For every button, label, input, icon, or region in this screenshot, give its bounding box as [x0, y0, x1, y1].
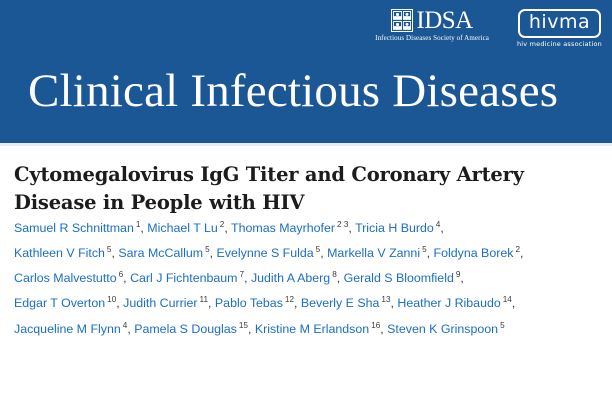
masthead-divider [0, 143, 612, 146]
author-list: Samuel R Schnittman1, Michael T Lu2, Tho… [14, 214, 606, 340]
author-separator: , [208, 297, 215, 311]
journal-title: Clinical Infectious Diseases [28, 68, 558, 115]
author-link[interactable]: Michael T Lu [147, 221, 217, 235]
author-affiliation-marker[interactable]: 10 [107, 295, 116, 304]
idsa-wordmark: IDSA [416, 9, 472, 33]
author-separator: , [210, 246, 217, 260]
author-affiliation-marker[interactable]: 5 [500, 321, 505, 330]
logo-row: IDSA Infectious Diseases Society of Amer… [375, 9, 602, 47]
author-link[interactable]: Carlos Malvestutto [14, 271, 117, 285]
author-affiliation-marker[interactable]: 12 [285, 295, 294, 304]
author-line: Edgar T Overton10, Judith Currier11, Pab… [14, 289, 606, 314]
author-affiliation-marker[interactable]: 16 [371, 321, 380, 330]
author-affiliation-marker[interactable]: 13 [381, 295, 390, 304]
author-link[interactable]: Kristine M Erlandson [255, 322, 369, 336]
author-link[interactable]: Beverly E Sha [301, 297, 380, 311]
author-link[interactable]: Evelynne S Fulda [217, 246, 314, 260]
author-link[interactable]: Tricia H Burdo [355, 221, 434, 235]
author-separator: , [248, 322, 255, 336]
author-link[interactable]: Pablo Tebas [215, 297, 283, 311]
author-separator: , [512, 297, 515, 311]
author-link[interactable]: Sara McCallum [118, 246, 203, 260]
author-link[interactable]: Heather J Ribaudo [397, 297, 500, 311]
author-link[interactable]: Thomas Mayrhofer [231, 221, 335, 235]
author-link[interactable]: Judith A Aberg [251, 271, 330, 285]
author-separator: , [427, 246, 434, 260]
hivma-wordmark: hivma [529, 13, 590, 33]
author-line: Jacqueline M Flynn4, Pamela S Douglas15,… [14, 315, 606, 340]
author-link[interactable]: Carl J Fichtenbaum [130, 271, 237, 285]
idsa-logo-top: IDSA [391, 9, 472, 33]
author-link[interactable]: Kathleen V Fitch [14, 246, 105, 260]
author-affiliation-marker[interactable]: 2 3 [337, 220, 348, 229]
author-link[interactable]: Pamela S Douglas [134, 322, 237, 336]
author-line: Samuel R Schnittman1, Michael T Lu2, Tho… [14, 214, 606, 239]
idsa-tagline: Infectious Diseases Society of America [375, 35, 489, 42]
article-header-page: IDSA Infectious Diseases Society of Amer… [0, 0, 612, 406]
author-link[interactable]: Gerald S Bloomfield [344, 271, 454, 285]
author-separator: , [294, 297, 301, 311]
author-link[interactable]: Judith Currier [123, 297, 197, 311]
author-link[interactable]: Foldyna Borek [434, 246, 514, 260]
author-link[interactable]: Jacqueline M Flynn [14, 322, 121, 336]
author-separator: , [440, 221, 443, 235]
hivma-logo[interactable]: hivma hiv medicine association [517, 9, 602, 47]
idsa-logo[interactable]: IDSA Infectious Diseases Society of Amer… [375, 9, 489, 42]
article-title: Cytomegalovirus IgG Titer and Coronary A… [14, 161, 574, 216]
author-affiliation-marker[interactable]: 11 [200, 295, 209, 304]
author-link[interactable]: Markella V Zanni [327, 246, 420, 260]
author-link[interactable]: Edgar T Overton [14, 297, 105, 311]
hivma-tagline: hiv medicine association [517, 41, 602, 48]
author-line: Kathleen V Fitch5, Sara McCallum5, Evely… [14, 239, 606, 264]
author-separator: , [337, 271, 344, 285]
author-separator: , [520, 246, 523, 260]
author-separator: , [460, 271, 463, 285]
idsa-emblem-icon [391, 9, 413, 32]
author-affiliation-marker[interactable]: 14 [503, 295, 512, 304]
hivma-logo-box: hivma [518, 9, 601, 38]
author-affiliation-marker[interactable]: 15 [239, 321, 248, 330]
author-link[interactable]: Samuel R Schnittman [14, 221, 134, 235]
author-separator: , [224, 221, 231, 235]
journal-masthead-banner: IDSA Infectious Diseases Society of Amer… [0, 0, 612, 143]
author-link[interactable]: Steven K Grinspoon [387, 322, 498, 336]
author-line: Carlos Malvestutto6, Carl J Fichtenbaum7… [14, 264, 606, 289]
author-separator: , [244, 271, 251, 285]
